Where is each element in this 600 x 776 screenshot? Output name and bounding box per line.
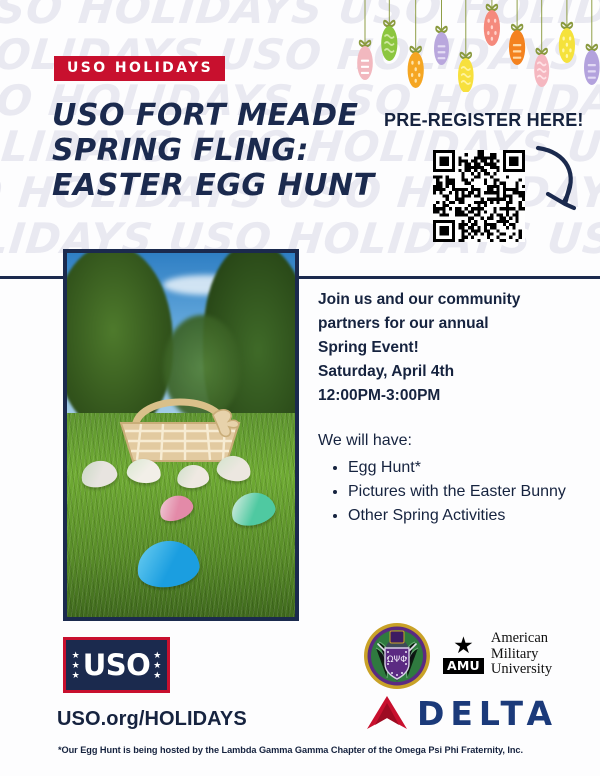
- hanging-egg: [458, 0, 474, 92]
- amu-abbreviation: AMU: [443, 658, 484, 674]
- amu-name-line-1: American: [491, 631, 552, 647]
- hanging-egg: [408, 0, 424, 88]
- delta-widget-icon: [366, 694, 408, 732]
- hanging-egg: [534, 0, 549, 87]
- star-icon: ★: [72, 651, 80, 660]
- amu-name-line-2: Military: [491, 647, 552, 663]
- amu-logo: ★ AMU American Military University: [443, 631, 552, 678]
- star-icon: ★: [72, 671, 80, 680]
- amu-name-line-3: University: [491, 662, 552, 678]
- hanging-egg: [584, 0, 600, 85]
- uso-holidays-badge: USO HOLIDAYS: [54, 56, 225, 81]
- uso-logo: ★ ★ ★ USO ★ ★ ★: [63, 637, 170, 693]
- pre-register-prompt: PRE-REGISTER HERE!: [384, 110, 584, 131]
- curved-arrow-icon: [524, 142, 594, 232]
- omega-psi-phi-seal: ΩΨΦ: [363, 622, 431, 690]
- qr-code[interactable]: [428, 150, 530, 242]
- activities-list: Egg Hunt*Pictures with the Easter BunnyO…: [318, 456, 576, 527]
- hanging-egg: [484, 0, 500, 46]
- easter-basket-photo: [63, 249, 299, 621]
- event-details: Join us and our community partners for o…: [318, 288, 576, 528]
- activity-item: Other Spring Activities: [348, 504, 576, 527]
- hanging-egg: [559, 0, 575, 63]
- star-icon: ★: [153, 651, 161, 660]
- star-icon: ★: [153, 661, 161, 670]
- uso-logo-wordmark: USO: [83, 651, 151, 680]
- star-icon: ★: [72, 661, 80, 670]
- hanging-egg: [434, 0, 449, 65]
- we-will-have-label: We will have:: [318, 430, 576, 452]
- event-lead-text: Join us and our community partners for o…: [318, 288, 576, 408]
- delta-logo: DELTA: [366, 694, 558, 732]
- hanging-easter-eggs-decoration: [350, 0, 600, 92]
- star-icon: ★: [153, 671, 161, 680]
- photo-basket: [111, 371, 249, 463]
- uso-logo-stars-right: ★ ★ ★: [153, 651, 161, 680]
- hanging-egg: [381, 0, 397, 61]
- flyer-canvas: USO HOLIDAYS USO HOLIDAYS USO HOLIDAYS U…: [0, 0, 600, 776]
- uso-website-url[interactable]: USO.org/HOLIDAYS: [57, 708, 247, 731]
- hanging-egg: [509, 0, 525, 65]
- uso-logo-stars-left: ★ ★ ★: [72, 651, 80, 680]
- activity-item: Pictures with the Easter Bunny: [348, 480, 576, 503]
- seal-greek-letters: ΩΨΦ: [387, 655, 407, 665]
- star-icon: ★: [453, 634, 474, 656]
- footnote-text: *Our Egg Hunt is being hosted by the Lam…: [58, 745, 523, 755]
- activity-item: Egg Hunt*: [348, 456, 576, 479]
- hanging-egg: [357, 0, 373, 80]
- page-title: USO FORT MEADE SPRING FLING: EASTER EGG …: [52, 98, 375, 203]
- delta-wordmark: DELTA: [417, 697, 558, 730]
